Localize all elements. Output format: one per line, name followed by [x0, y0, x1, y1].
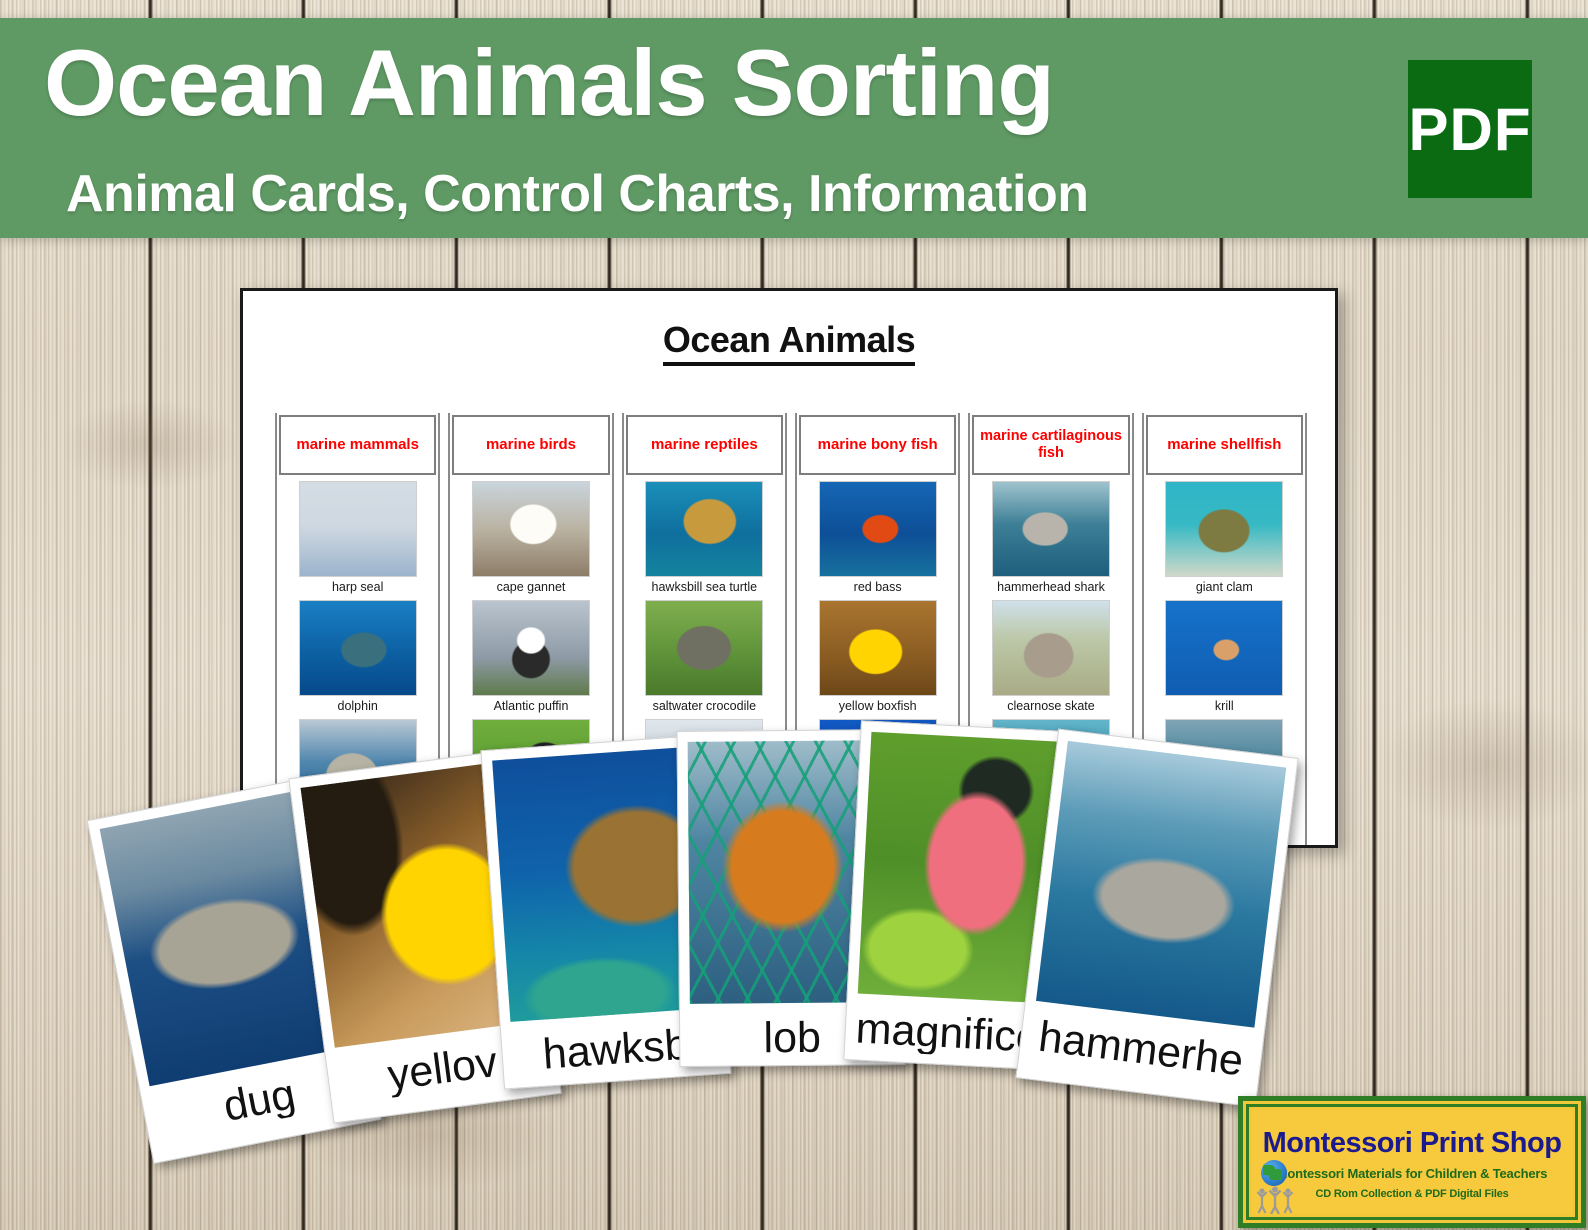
animal-name: hawksbill sea turtle: [652, 580, 758, 594]
animal-photo-krill: [1165, 600, 1283, 696]
page-subtitle: Animal Cards, Control Charts, Informatio…: [66, 164, 1088, 224]
chart-cell: cape gannet: [450, 481, 611, 598]
chart-cell: krill: [1144, 600, 1305, 717]
animal-name: saltwater crocodile: [653, 699, 757, 713]
card-photo-hammerhead-shark: [1036, 741, 1286, 1028]
animal-name: dolphin: [338, 699, 378, 713]
column-header: marine reptiles: [626, 415, 783, 475]
globe-icon: [1261, 1160, 1287, 1186]
montessori-print-shop-logo[interactable]: Montessori Print Shop Montessori Materia…: [1238, 1096, 1586, 1228]
column-header-label: marine shellfish: [1167, 436, 1281, 453]
logo-tagline: Montessori Materials for Children & Teac…: [1277, 1166, 1548, 1181]
column-header: marine mammals: [279, 415, 436, 475]
page-title: Ocean Animals Sorting: [44, 34, 1054, 133]
animal-photo-dolphin: [299, 600, 417, 696]
chart-cell: giant clam: [1144, 481, 1305, 598]
card-label: hammerhe: [1029, 1015, 1253, 1084]
animal-photo-atlantic-puffin: [472, 600, 590, 696]
animal-photo-cape-gannet: [472, 481, 590, 577]
pdf-badge: PDF: [1408, 60, 1532, 198]
people-icon: [1256, 1186, 1296, 1214]
animal-card-hammerhead-shark[interactable]: hammerhe: [1015, 729, 1298, 1108]
animal-name: red bass: [854, 580, 902, 594]
animal-photo-hammerhead-shark: [992, 481, 1110, 577]
column-header: marine bony fish: [799, 415, 956, 475]
chart-cell: harp seal: [277, 481, 438, 598]
animal-name: clearnose skate: [1007, 699, 1095, 713]
chart-cell: clearnose skate: [970, 600, 1131, 717]
title-banner: Ocean Animals Sorting Animal Cards, Cont…: [0, 18, 1588, 238]
logo-formats: CD Rom Collection & PDF Digital Files: [1315, 1188, 1508, 1200]
column-header: marine cartilaginous fish: [972, 415, 1129, 475]
animal-name: krill: [1215, 699, 1234, 713]
animal-photo-saltwater-crocodile: [645, 600, 763, 696]
chart-cell: saltwater crocodile: [624, 600, 785, 717]
column-header-label: marine bony fish: [818, 436, 938, 453]
chart-cell: Atlantic puffin: [450, 600, 611, 717]
animal-photo-giant-clam: [1165, 481, 1283, 577]
animal-photo-hawksbill-sea-turtle: [645, 481, 763, 577]
animal-photo-yellow-boxfish: [819, 600, 937, 696]
animal-photo-clearnose-skate: [992, 600, 1110, 696]
animal-photo-harp-seal: [299, 481, 417, 577]
product-cover: Ocean Animals Sorting Animal Cards, Cont…: [0, 0, 1588, 1230]
column-header-label: marine birds: [486, 436, 576, 453]
chart-cell: hawksbill sea turtle: [624, 481, 785, 598]
column-header: marine birds: [452, 415, 609, 475]
logo-title: Montessori Print Shop: [1263, 1127, 1562, 1160]
column-header-label: marine mammals: [296, 436, 419, 453]
chart-cell: yellow boxfish: [797, 600, 958, 717]
column-header-label: marine cartilaginous fish: [978, 428, 1123, 461]
animal-name: hammerhead shark: [997, 580, 1105, 594]
animal-photo-red-bass: [819, 481, 937, 577]
animal-name: giant clam: [1196, 580, 1253, 594]
chart-cell: dolphin: [277, 600, 438, 717]
column-header-label: marine reptiles: [651, 436, 758, 453]
chart-cell: red bass: [797, 481, 958, 598]
animal-name: harp seal: [332, 580, 383, 594]
animal-name: yellow boxfish: [839, 699, 917, 713]
chart-title: Ocean Animals: [249, 319, 1329, 361]
animal-name: Atlantic puffin: [494, 699, 569, 713]
chart-cell: hammerhead shark: [970, 481, 1131, 598]
column-header: marine shellfish: [1146, 415, 1303, 475]
animal-name: cape gannet: [497, 580, 566, 594]
